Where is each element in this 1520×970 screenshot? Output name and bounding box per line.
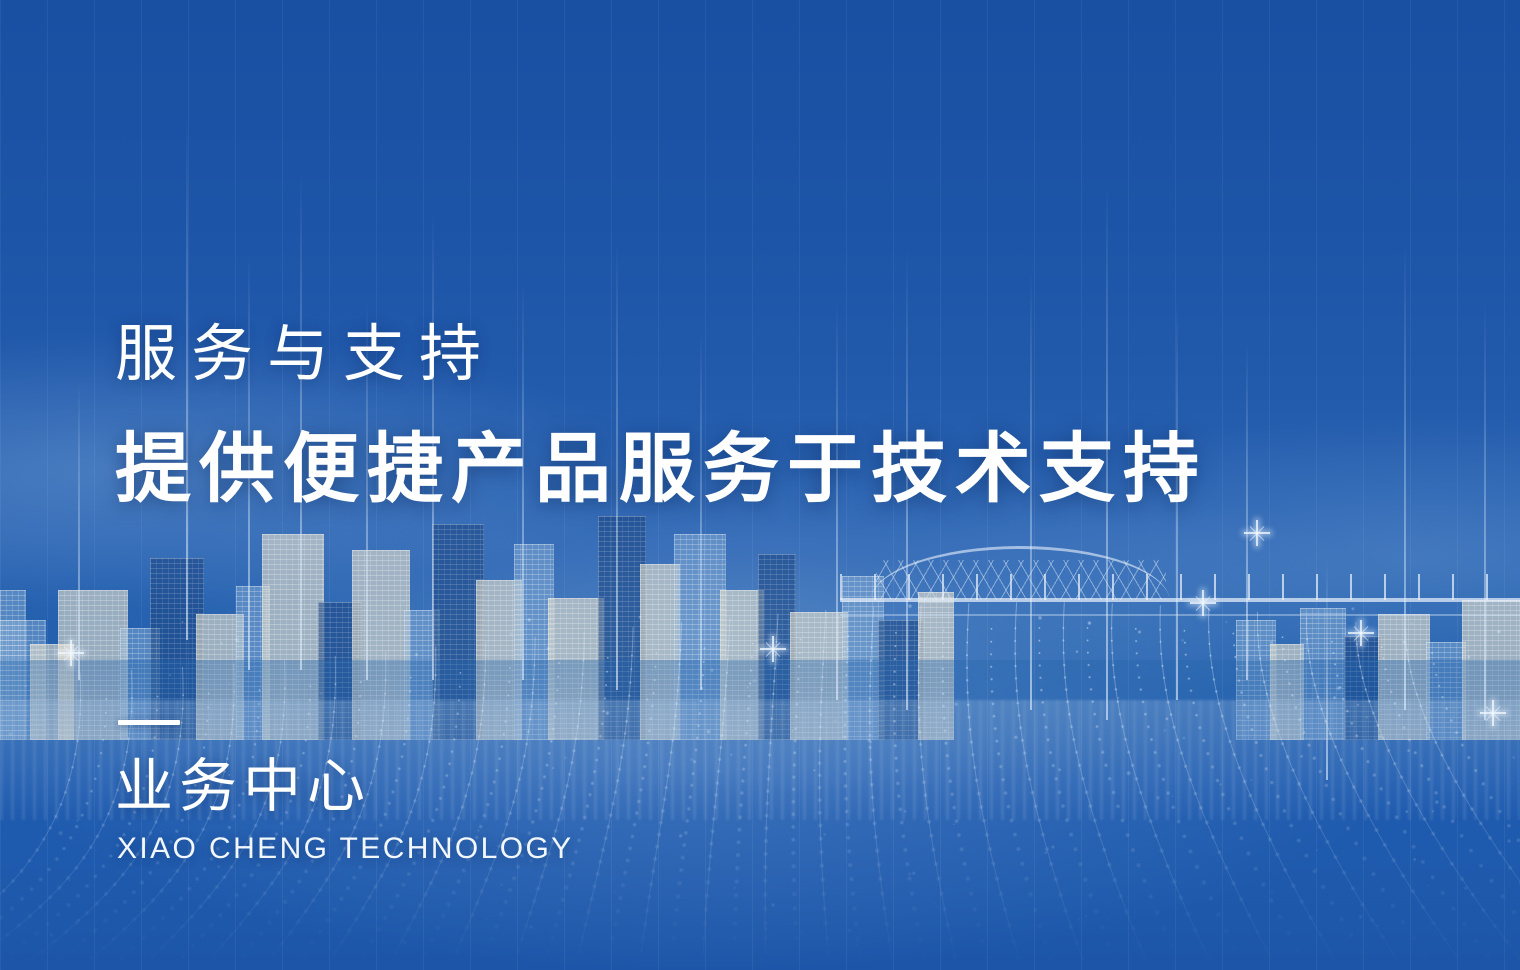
divider-rule — [118, 720, 180, 725]
eyebrow-text: 服务与支持 — [115, 324, 495, 386]
banner-stage: 服务与支持 提供便捷产品服务于技术支持 业务中心 XIAO CHENG TECH… — [0, 0, 1520, 970]
romanized-name: XIAO CHENG TECHNOLOGY — [117, 834, 574, 864]
banner-copy: 服务与支持 提供便捷产品服务于技术支持 业务中心 XIAO CHENG TECH… — [115, 0, 1415, 970]
page-title: 提供便捷产品服务于技术支持 — [115, 432, 1207, 508]
subtitle-text: 业务中心 — [115, 758, 371, 816]
